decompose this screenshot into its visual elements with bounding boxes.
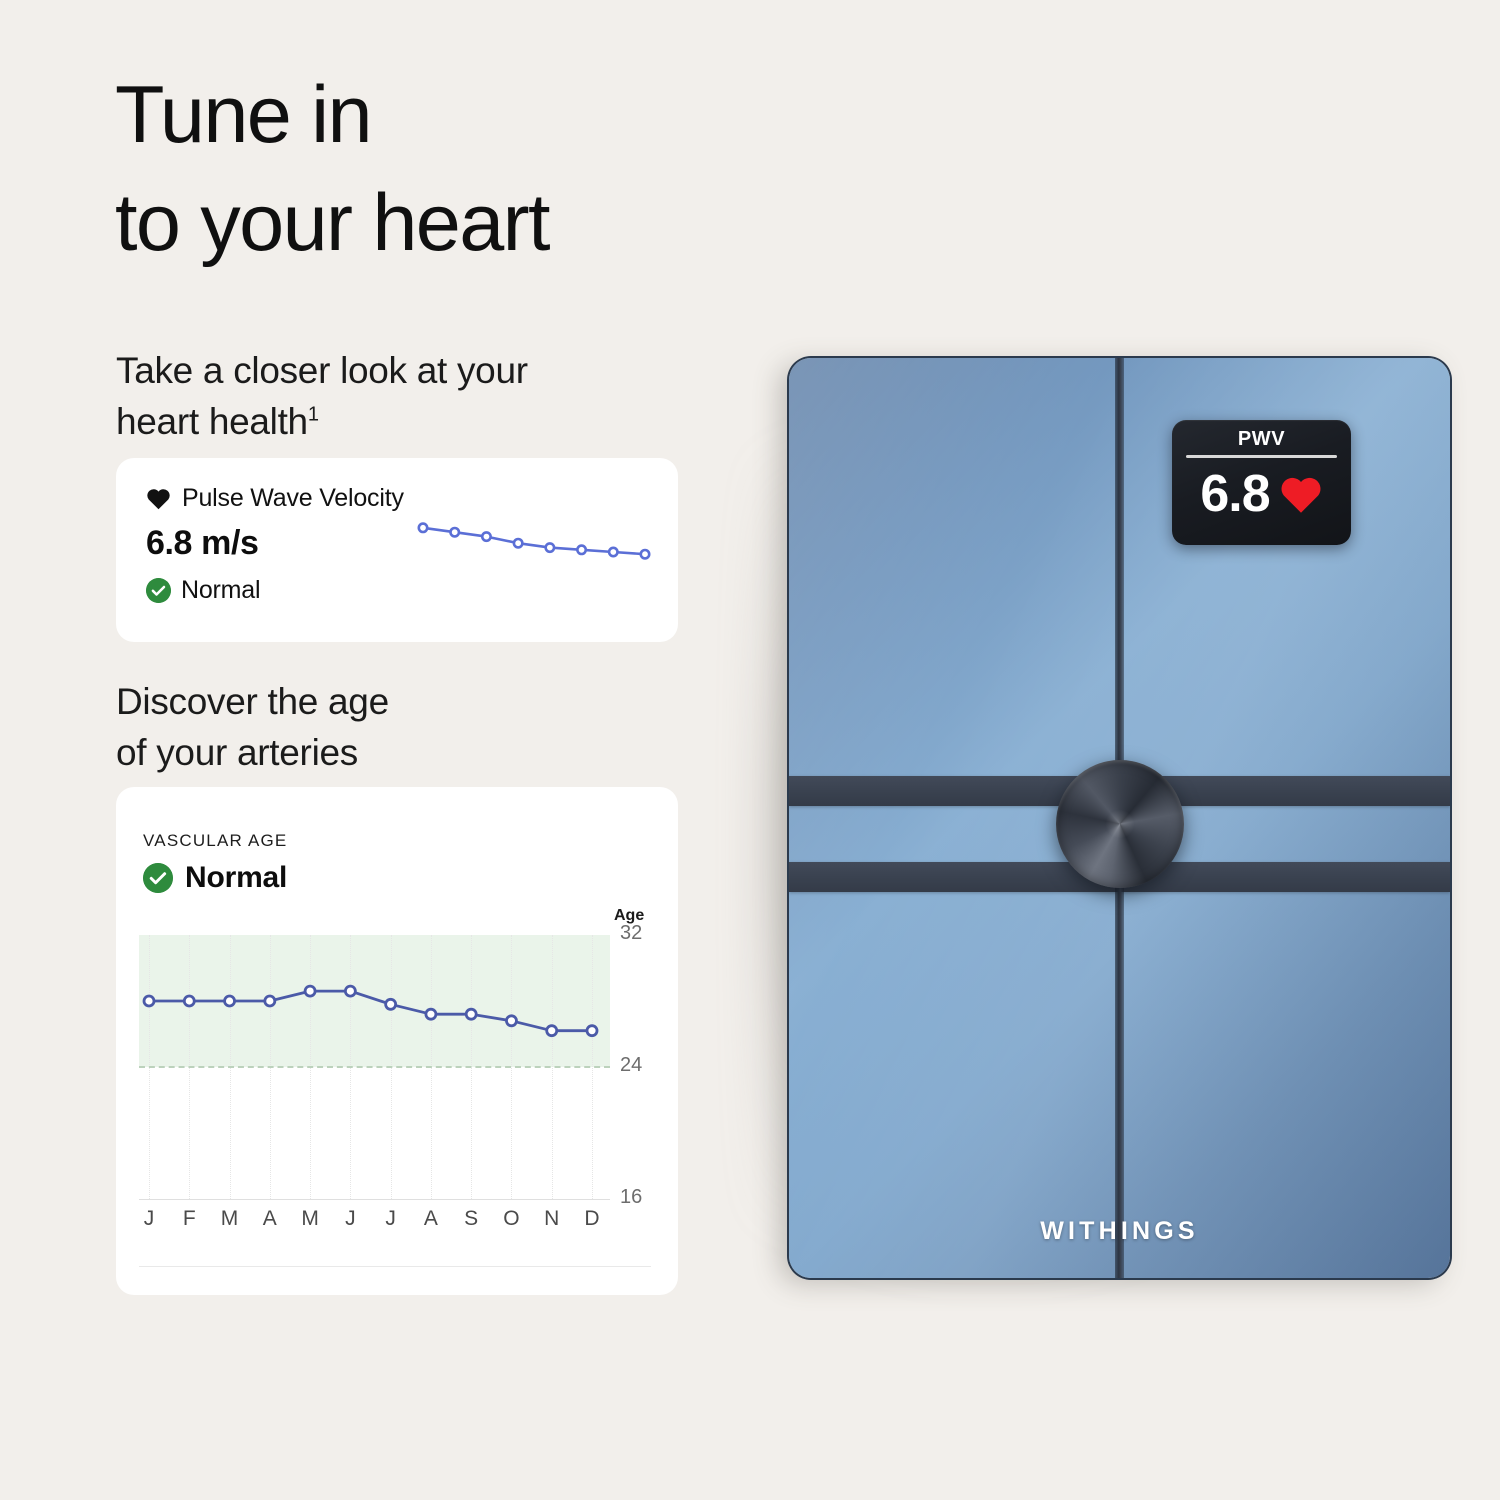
check-circle-icon	[146, 578, 171, 603]
scale-display: PWV 6.8	[1172, 420, 1351, 545]
display-title: PWV	[1172, 428, 1351, 451]
withings-scale-product: PWV 6.8 WITHINGS	[789, 358, 1450, 1278]
month-label-J-5: J	[345, 1207, 356, 1231]
month-label-M-2: M	[221, 1207, 239, 1231]
pwv-title: Pulse Wave Velocity	[182, 484, 404, 513]
month-label-A-3: A	[263, 1207, 277, 1231]
pwv-card-info: Pulse Wave Velocity 6.8 m/s Normal	[146, 484, 404, 605]
y-tick-32: 32	[620, 922, 642, 945]
heart-icon	[1279, 474, 1323, 514]
footnote-marker: 1	[308, 404, 319, 426]
month-label-D-11: D	[584, 1207, 599, 1231]
month-label-N-10: N	[544, 1207, 559, 1231]
vascular-status-text: Normal	[185, 861, 287, 895]
vascular-age-chart: Age 322416 JFMAMJJASOND	[116, 907, 678, 1295]
brand-logo: WITHINGS	[789, 1217, 1450, 1246]
vascular-age-label: VASCULAR AGE	[143, 831, 287, 851]
display-divider	[1186, 455, 1337, 458]
card-divider	[139, 1266, 651, 1267]
month-label-A-7: A	[424, 1207, 438, 1231]
pwv-title-row: Pulse Wave Velocity	[146, 484, 404, 513]
pulse-wave-velocity-card[interactable]: Pulse Wave Velocity 6.8 m/s Normal	[116, 458, 678, 642]
display-value: 6.8	[1200, 468, 1269, 520]
month-label-M-4: M	[301, 1207, 319, 1231]
y-tick-16: 16	[620, 1186, 642, 1209]
month-label-J-6: J	[385, 1207, 396, 1231]
month-label-O-9: O	[503, 1207, 519, 1231]
display-main-row: 6.8	[1172, 468, 1351, 520]
heart-health-subhead-text: Take a closer look at your heart health	[116, 350, 528, 442]
pwv-status-text: Normal	[181, 576, 260, 605]
vascular-age-card[interactable]: VASCULAR AGE Normal Age 322416 JFMAMJJAS…	[116, 787, 678, 1295]
vascular-age-line-svg	[139, 935, 610, 1233]
check-circle-icon	[143, 863, 173, 893]
center-dial	[1056, 760, 1184, 888]
pwv-sparkline	[414, 510, 654, 572]
pwv-status-row: Normal	[146, 576, 404, 605]
chart-plot-area	[139, 935, 610, 1233]
vascular-subhead: Discover the age of your arteries	[116, 676, 389, 778]
pwv-sparkline-svg	[414, 510, 654, 572]
month-label-J-0: J	[144, 1207, 155, 1231]
heart-icon	[146, 487, 171, 510]
x-axis-month-labels: JFMAMJJASOND	[139, 1207, 610, 1237]
pwv-value: 6.8 m/s	[146, 524, 404, 563]
marketing-page: Tune in to your heart Take a closer look…	[0, 0, 1500, 1500]
vascular-status-row: Normal	[143, 861, 287, 895]
month-label-S-8: S	[464, 1207, 478, 1231]
y-tick-24: 24	[620, 1054, 642, 1077]
month-label-F-1: F	[183, 1207, 196, 1231]
heart-health-subhead: Take a closer look at your heart health1	[116, 345, 528, 447]
page-headline: Tune in to your heart	[115, 62, 549, 277]
